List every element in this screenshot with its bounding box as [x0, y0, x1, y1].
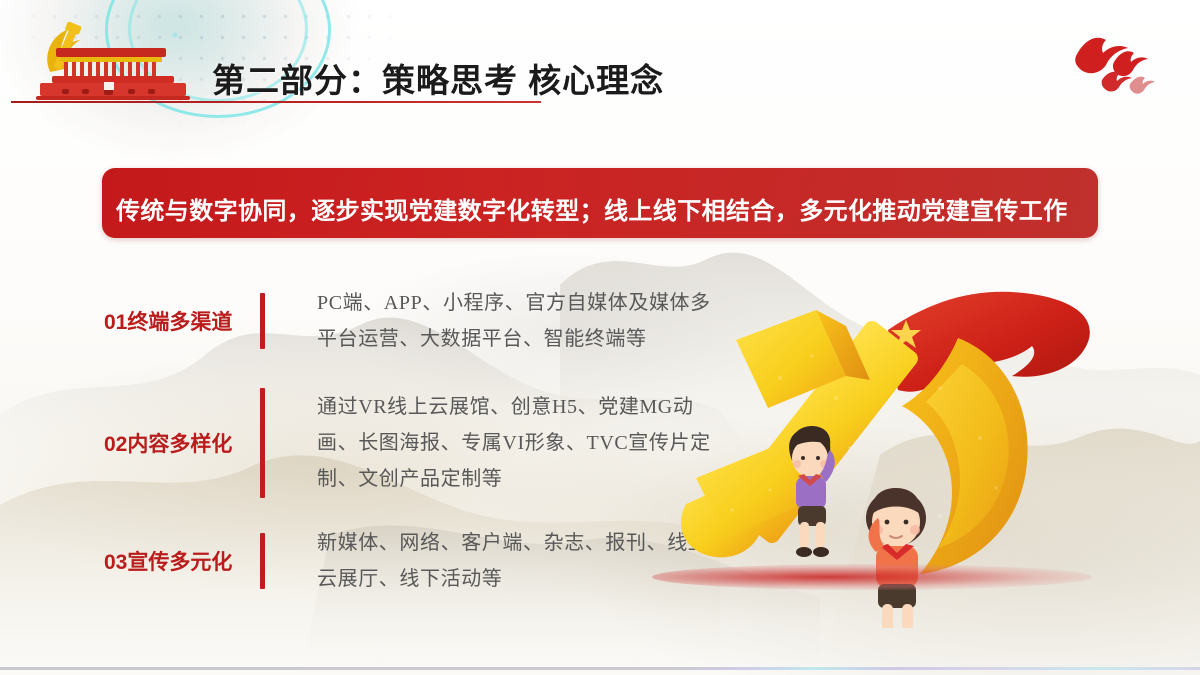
- list-item-label: 01终端多渠道: [104, 306, 254, 336]
- page-title-sub: 核心理念: [518, 62, 664, 99]
- key-message-banner: 传统与数字协同，逐步实现党建数字化转型；线上线下相结合，多元化推动党建宣传工作: [102, 168, 1098, 238]
- list-item-label: 02内容多样化: [104, 428, 254, 458]
- slide-canvas: 第二部分：策略思考 核心理念 传统与数字协同，逐步实现党建数字化转型；线上线下相…: [0, 0, 1200, 675]
- bottom-divider: [0, 667, 1200, 670]
- title-underline: [11, 101, 541, 103]
- list-item-divider: [260, 388, 265, 498]
- party-emblem-artwork: [640, 268, 1200, 628]
- list-item-label: 03宣传多元化: [104, 546, 254, 576]
- artwork-ground-shadow: [652, 564, 1092, 590]
- list-item[interactable]: 03宣传多元化 新媒体、网络、客户端、杂志、报刊、线上云展厅、线下活动等: [104, 522, 724, 600]
- page-title: 第二部分：策略思考 核心理念: [212, 54, 664, 102]
- strategy-list: 01终端多渠道 PC端、APP、小程序、官方自媒体及媒体多平台运营、大数据平台、…: [104, 282, 724, 600]
- red-doves-icon: [1058, 22, 1178, 108]
- key-message-text: 传统与数字协同，逐步实现党建数字化转型；线上线下相结合，多元化推动党建宣传工作: [116, 190, 1096, 234]
- tiananmen-gate-image: [30, 40, 195, 105]
- list-item[interactable]: 01终端多渠道 PC端、APP、小程序、官方自媒体及媒体多平台运营、大数据平台、…: [104, 282, 724, 360]
- list-item[interactable]: 02内容多样化 通过VR线上云展馆、创意H5、党建MG动画、长图海报、专属VI形…: [104, 404, 724, 482]
- page-title-main: 第二部分：策略思考: [212, 62, 518, 99]
- slide-header: 第二部分：策略思考 核心理念: [0, 0, 1200, 118]
- list-item-divider: [260, 293, 265, 349]
- list-item-divider: [260, 533, 265, 589]
- girl-character: [866, 488, 926, 628]
